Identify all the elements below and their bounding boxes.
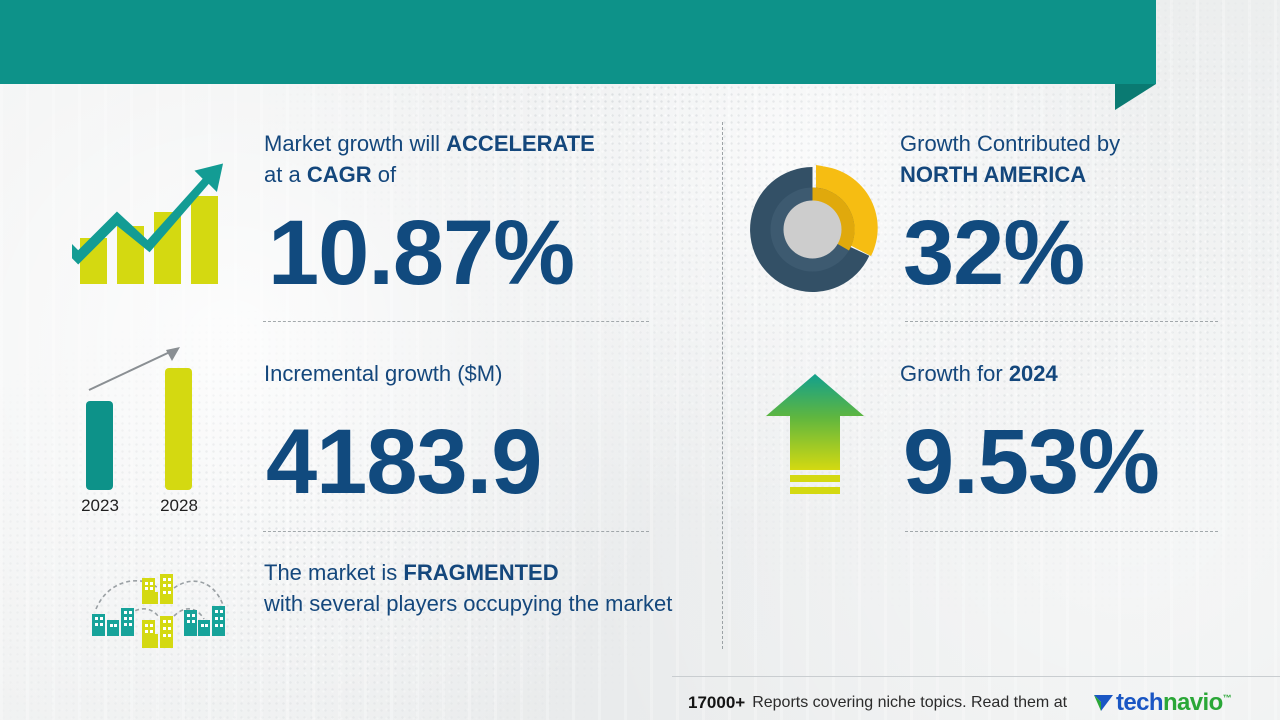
fragmentation-caption: The market is FRAGMENTED with several pl… xyxy=(264,557,684,619)
left-divider-1 xyxy=(263,321,649,322)
fragmentation-text-1: The market is xyxy=(264,560,403,585)
cagr-caption-text-3: of xyxy=(372,162,396,187)
bar-label-2023: 2023 xyxy=(81,496,119,515)
technavio-logo[interactable]: technavio™ xyxy=(1092,691,1231,715)
cagr-caption: Market growth will ACCELERATE at a CAGR … xyxy=(264,128,664,190)
report-count: 17000+ xyxy=(688,693,745,713)
logo-text-navio: navio xyxy=(1163,689,1223,716)
cagr-value: 10.87% xyxy=(268,207,574,299)
cagr-caption-text-1: Market growth will xyxy=(264,131,446,156)
donut-chart-icon xyxy=(745,162,880,297)
upward-arrow-icon xyxy=(763,372,867,504)
cagr-caption-bold-1: ACCELERATE xyxy=(446,131,595,156)
region-caption: Growth Contributed byNORTH AMERICA xyxy=(900,128,1230,190)
year-growth-value: 9.53% xyxy=(903,416,1159,508)
region-bold-1: NORTH AMERICA xyxy=(900,162,1086,187)
incremental-caption: Incremental growth ($M) xyxy=(264,358,664,389)
incremental-value: 4183.9 xyxy=(266,416,541,508)
right-divider-1 xyxy=(905,321,1218,322)
region-text-1: Growth Contributed by xyxy=(900,131,1120,156)
two-bar-comparison-icon: 2023 2028 xyxy=(62,336,232,516)
infographic-canvas: GLOBAL SECURITY INFORMATION AND EVENT MA… xyxy=(0,0,1280,720)
cagr-caption-bold-2: CAGR xyxy=(307,162,372,187)
logo-text-tech: tech xyxy=(1116,689,1163,716)
cagr-caption-text-2: at a xyxy=(264,162,307,187)
year-growth-caption: Growth for 2024 xyxy=(900,358,1230,389)
logo-trademark: ™ xyxy=(1223,693,1231,703)
right-divider-2 xyxy=(905,531,1218,532)
left-divider-2 xyxy=(263,531,649,532)
year-growth-bold-1: 2024 xyxy=(1009,361,1058,386)
fragmentation-text-2: with several players occupying the marke… xyxy=(264,591,672,616)
region-value: 32% xyxy=(903,207,1084,299)
footer-bar: 17000+ Reports covering niche topics. Re… xyxy=(688,688,1268,718)
footer-text: Reports covering niche topics. Read them… xyxy=(752,694,1067,712)
header-banner xyxy=(0,0,1156,84)
column-divider xyxy=(722,122,723,649)
bar-label-2028: 2028 xyxy=(160,496,198,515)
footer-divider xyxy=(672,676,1280,677)
growth-bar-chart-arrow-icon xyxy=(72,146,232,296)
technavio-arrow-icon xyxy=(1092,691,1116,715)
year-growth-text-1: Growth for xyxy=(900,361,1009,386)
connected-city-buildings-icon xyxy=(78,562,238,662)
header-ribbon-fold xyxy=(1115,84,1156,110)
fragmentation-bold-1: FRAGMENTED xyxy=(403,560,558,585)
